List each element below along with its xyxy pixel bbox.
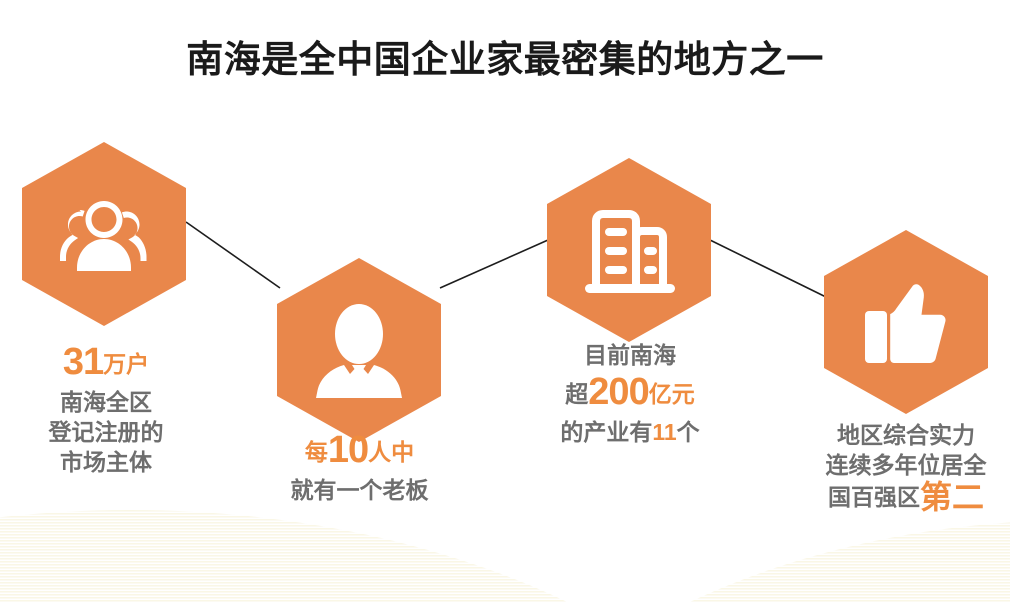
stat-prefix: 每 — [305, 439, 328, 465]
stat-unit: 人中 — [368, 439, 414, 465]
connector-line-3 — [710, 240, 828, 298]
people-group-icon — [52, 191, 156, 277]
stat-line: 超200亿元 — [520, 370, 740, 417]
connector-line-1 — [186, 222, 280, 288]
stat-value: 10 — [328, 429, 368, 471]
tail-prefix: 的产业有 — [560, 419, 652, 445]
caption-one-boss-per-ten: 每10人中 就有一个老板 — [257, 428, 462, 505]
infographic-canvas: 南海是全中国企业家最密集的地方之一 — [0, 0, 1010, 602]
description-line: 市场主体 — [6, 447, 206, 477]
connector-line-2 — [440, 240, 548, 288]
description-line: 就有一个老板 — [257, 475, 462, 505]
tail-line: 的产业有11个 — [520, 417, 740, 447]
rank-value: 第二 — [920, 479, 984, 515]
thumbs-up-icon — [856, 274, 956, 370]
tail-value: 11 — [652, 419, 676, 445]
hex-node-one-boss-per-ten[interactable] — [277, 258, 441, 442]
hex-node-industries-over-20bn[interactable] — [547, 158, 711, 342]
caption-industries-over-20bn: 目前南海 超200亿元 的产业有11个 — [520, 340, 740, 447]
stat-value: 200 — [588, 371, 648, 413]
businessman-icon — [309, 298, 409, 402]
stat-unit: 亿元 — [649, 381, 695, 407]
caption-registered-entities: 31万户 南海全区 登记注册的 市场主体 — [6, 340, 206, 477]
rank-prefix: 国百强区 — [828, 484, 920, 510]
office-buildings-icon — [577, 200, 681, 300]
description-line: 连续多年位居全 — [806, 450, 1006, 480]
stat-line: 每10人中 — [257, 428, 462, 475]
description-line: 南海全区 — [6, 387, 206, 417]
caption-national-ranking: 地区综合实力 连续多年位居全 国百强区第二 — [806, 420, 1006, 514]
tail-unit: 个 — [677, 419, 700, 445]
stat-value: 31 — [63, 341, 103, 383]
description-line: 地区综合实力 — [806, 420, 1006, 450]
lead-line: 目前南海 — [520, 340, 740, 370]
description-line: 登记注册的 — [6, 417, 206, 447]
page-title: 南海是全中国企业家最密集的地方之一 — [0, 36, 1010, 84]
stat-unit: 万户 — [103, 351, 149, 377]
hex-node-registered-entities[interactable] — [22, 142, 186, 326]
stat-prefix: 超 — [565, 381, 588, 407]
hex-node-national-ranking[interactable] — [824, 230, 988, 414]
stat-line: 31万户 — [6, 340, 206, 387]
rank-line: 国百强区第二 — [806, 480, 1006, 514]
